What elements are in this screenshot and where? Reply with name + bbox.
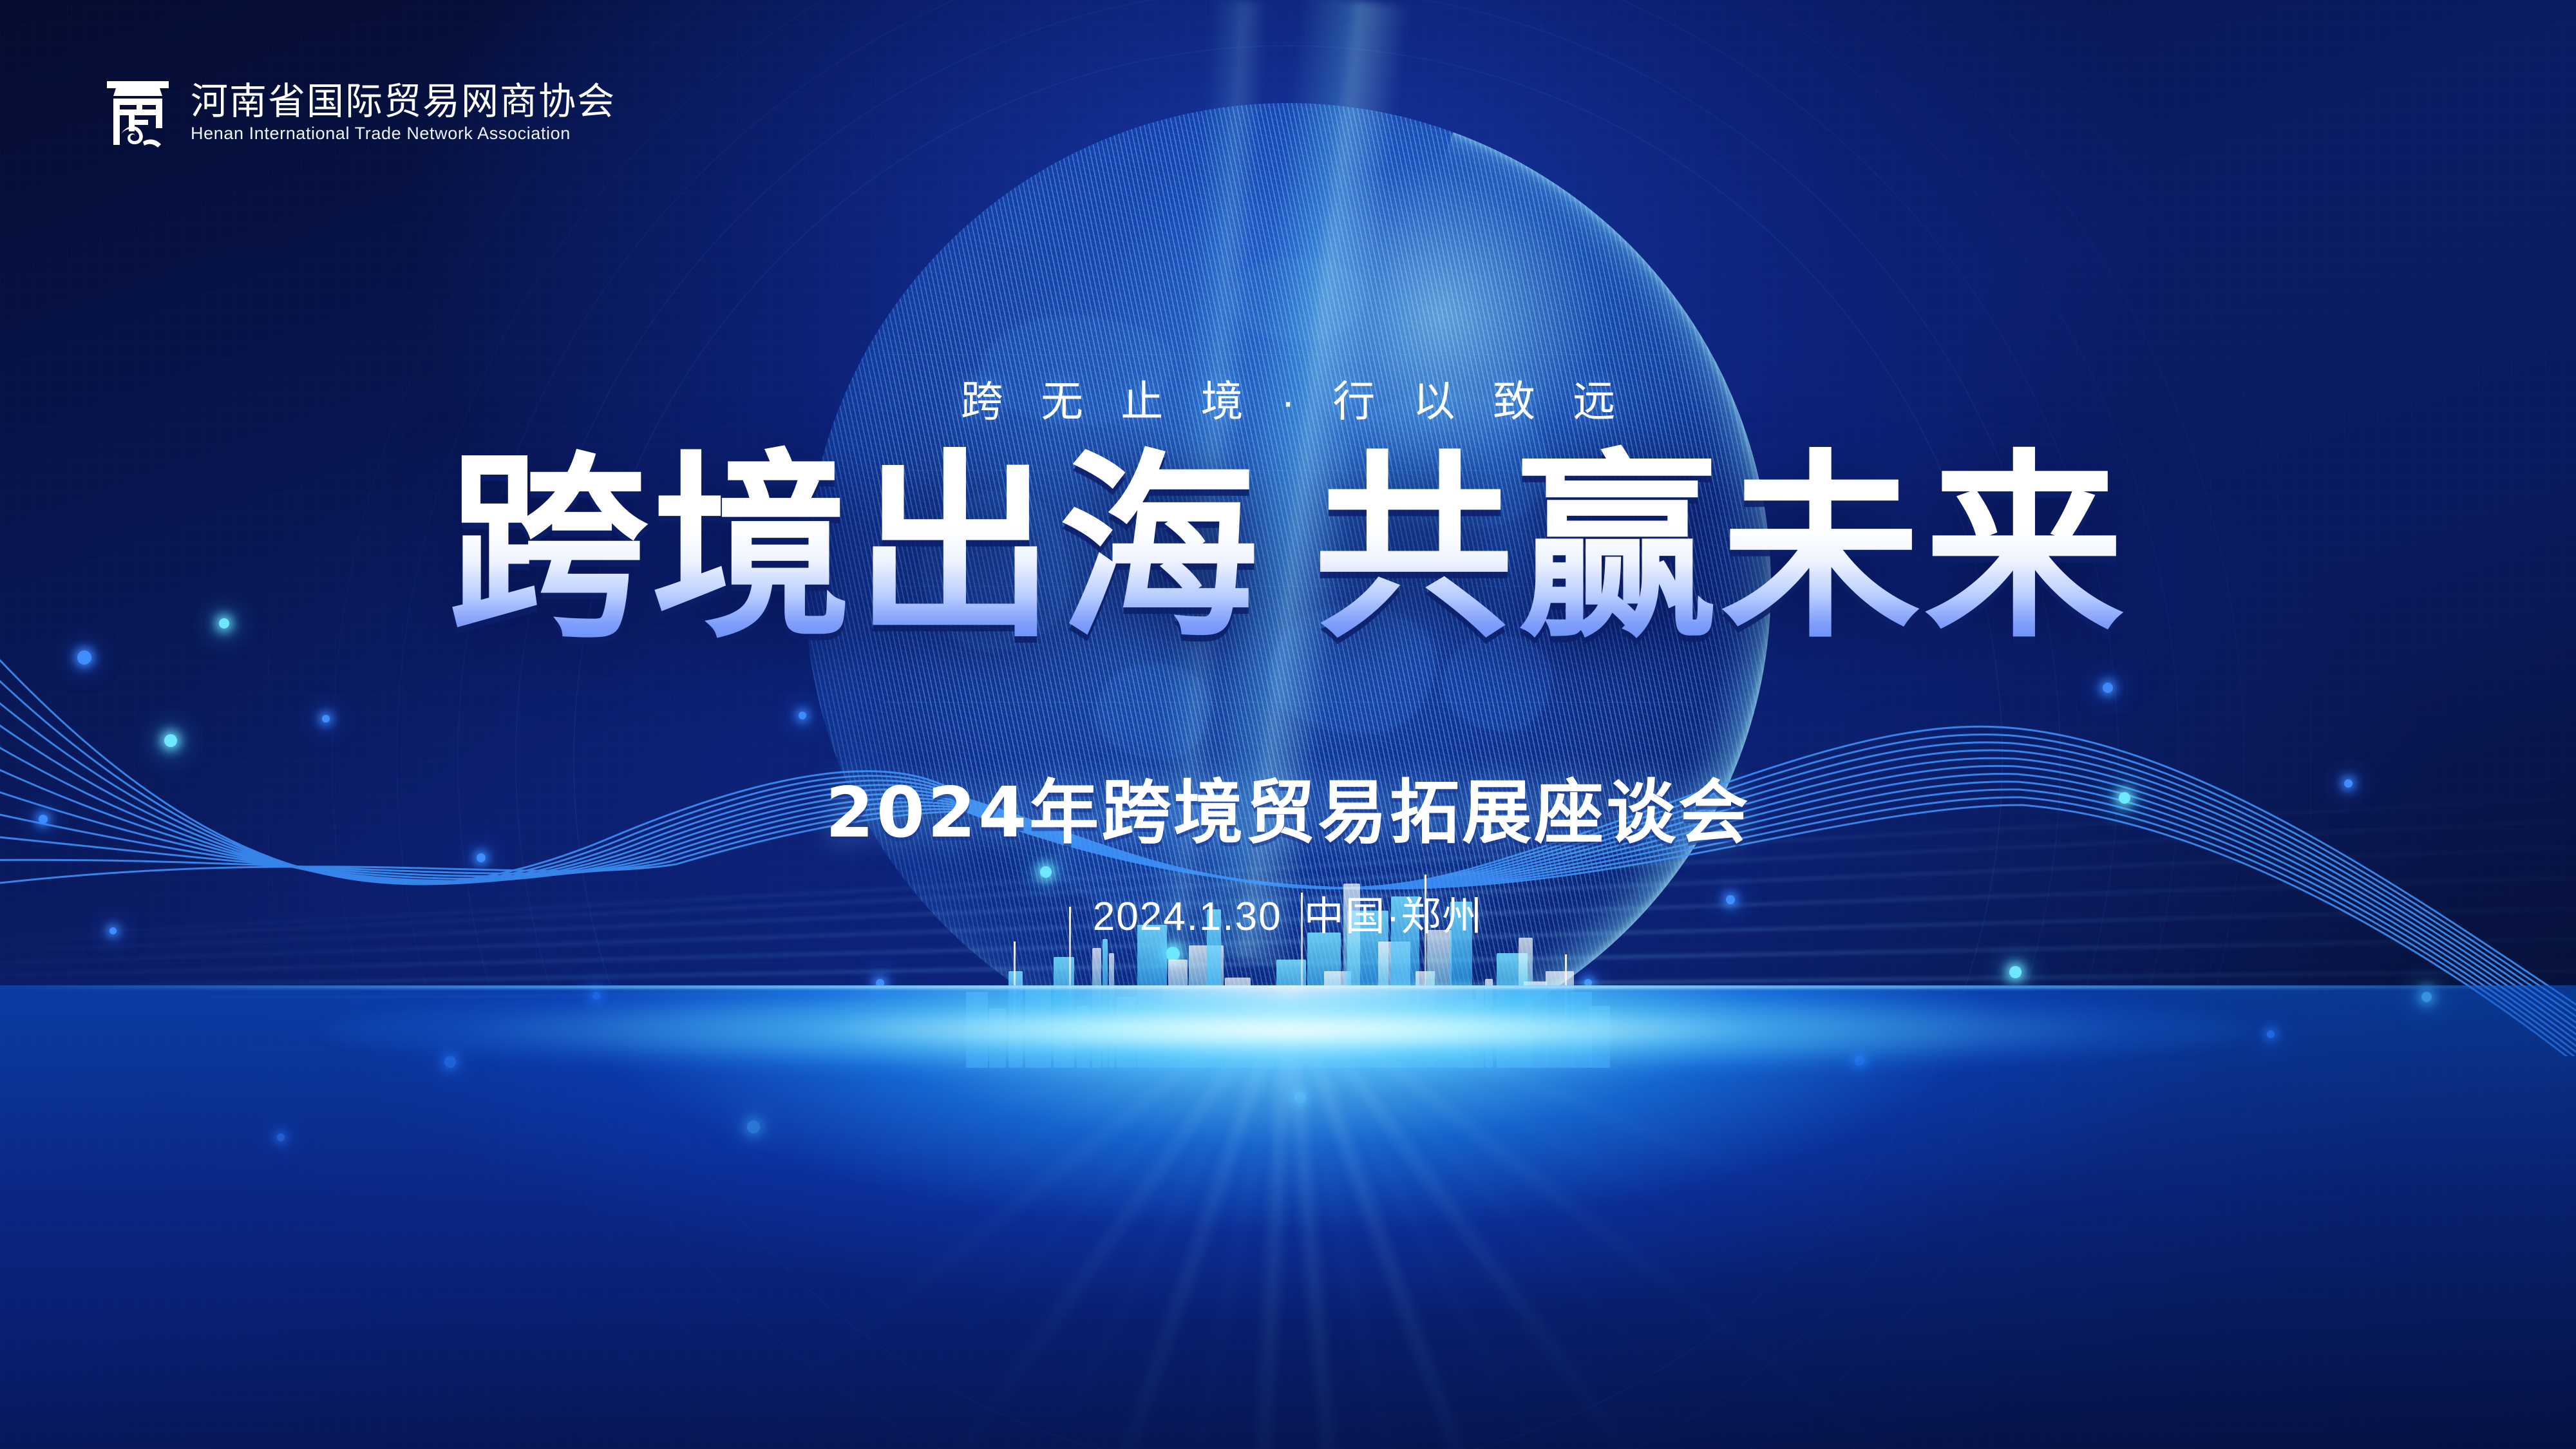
poster-tagline: 跨 无 止 境 · 行 以 致 远 xyxy=(0,367,2576,429)
event-date: 2024.1.30 xyxy=(1093,895,1282,939)
seal-emblem-icon xyxy=(103,77,173,148)
event-subtitle: 2024年跨境贸易拓展座谈会 xyxy=(0,757,2576,857)
event-meta: 2024.1.30中国·郑州 xyxy=(0,884,2576,942)
logo-name-cn: 河南省国际贸易网商协会 xyxy=(191,82,616,122)
event-location: 中国·郑州 xyxy=(1304,895,1484,939)
headline-left: 跨境出海 xyxy=(448,444,1262,654)
logo-name-en: Henan International Trade Network Associ… xyxy=(191,124,616,144)
page-title: 跨境出海共赢未来 xyxy=(0,444,2576,654)
light-rays-icon xyxy=(0,985,2576,1449)
headline-right: 共赢未来 xyxy=(1314,444,2128,654)
association-logo: 河南省国际贸易网商协会 Henan International Trade Ne… xyxy=(103,77,616,148)
event-poster: 河南省国际贸易网商协会 Henan International Trade Ne… xyxy=(0,0,2576,1449)
